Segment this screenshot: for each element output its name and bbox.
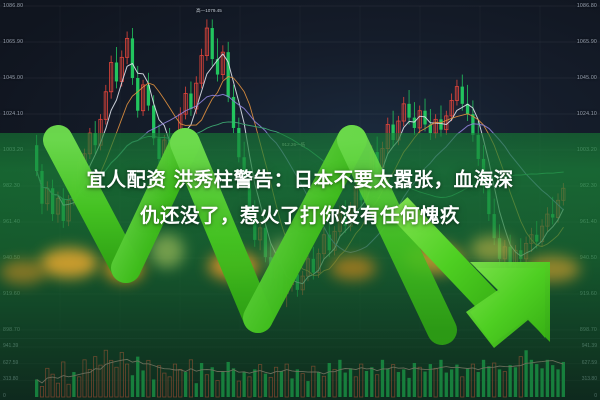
headline-text: 宜人配资 洪秀柱警告：日本不要太嚣张，血海深 仇还没了，惹火了打你没有任何愧疚 <box>0 162 600 234</box>
screenshot-stage: 1086.801086.801065.901065.901045.001045.… <box>0 0 600 400</box>
headline-line-1: 宜人配资 洪秀柱警告：日本不要太嚣张，血海深 <box>0 162 600 198</box>
headline-line-2: 仇还没了，惹火了打你没有任何愧疚 <box>0 198 600 234</box>
